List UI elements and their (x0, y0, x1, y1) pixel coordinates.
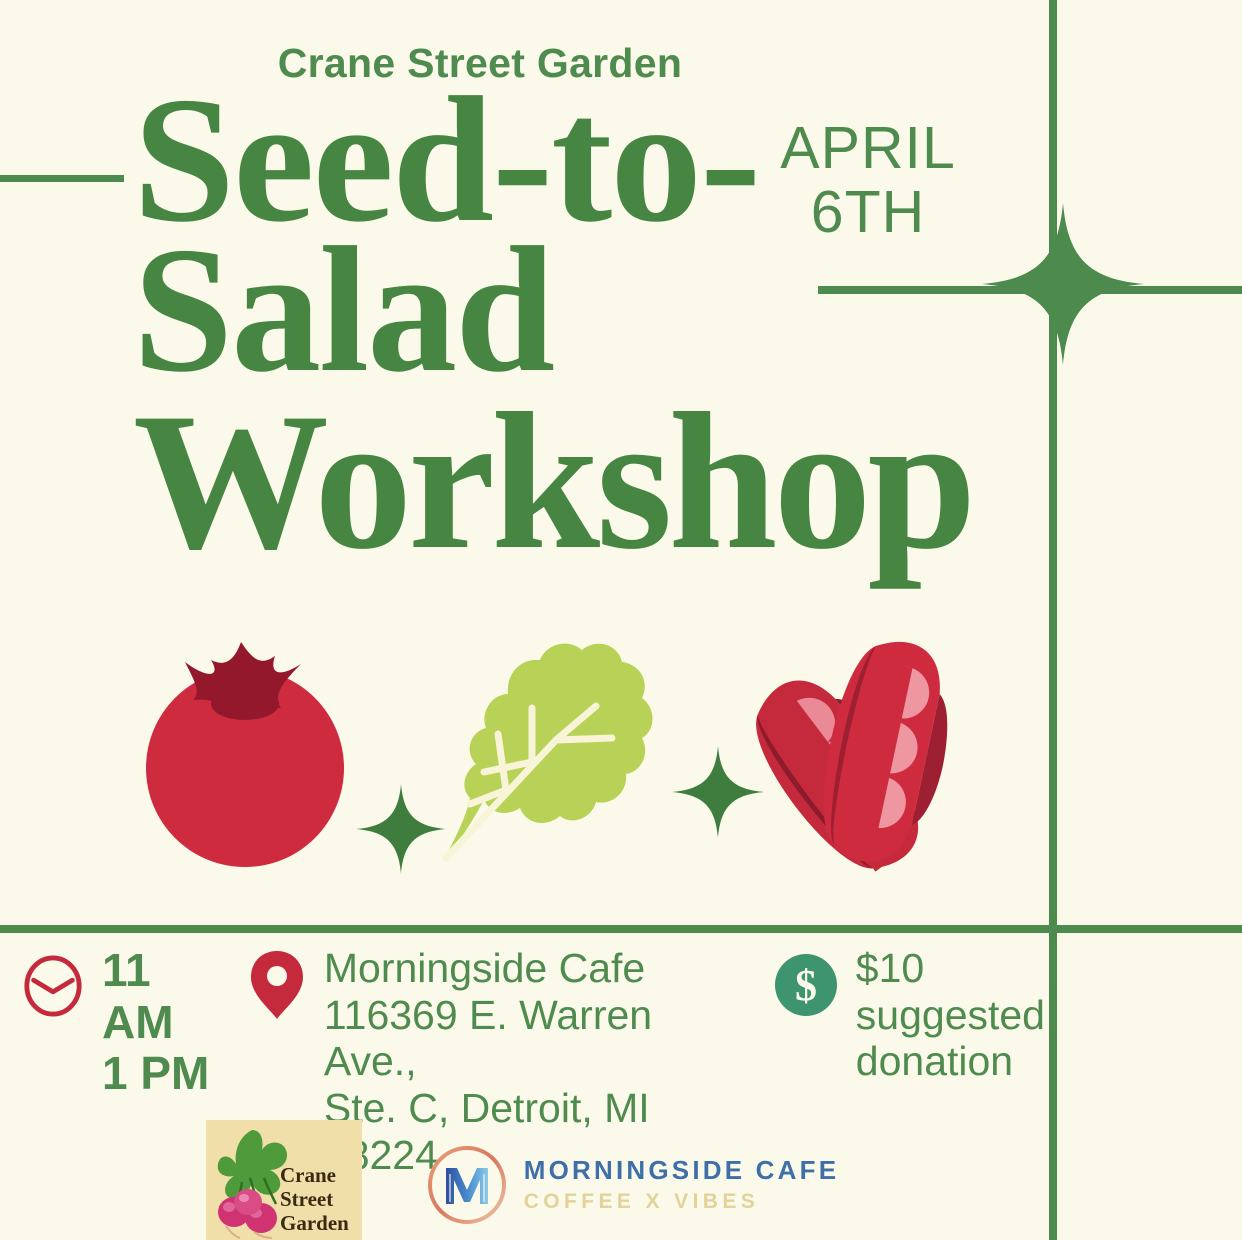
morningside-monogram-icon (424, 1142, 510, 1228)
svg-text:$: $ (795, 961, 817, 1010)
sparkle-small-icon (356, 780, 446, 878)
morningside-name: MORNINGSIDE CAFE (524, 1156, 840, 1186)
event-time-text: 11 AM 1 PM (102, 945, 216, 1100)
event-time-block: 11 AM 1 PM (22, 945, 216, 1100)
svg-text:Garden: Garden (280, 1211, 349, 1235)
title-line-1: Seed-to- (133, 88, 1082, 232)
event-cost-text: $10 suggested donation (856, 945, 1045, 1085)
dollar-circle-icon: $ (774, 953, 838, 1017)
title-line-3: Workshop (133, 404, 1063, 561)
svg-text:Street: Street (280, 1187, 333, 1211)
title-line-2: Salad (133, 238, 1063, 382)
decorative-rule-left (0, 175, 124, 182)
event-details-bar: 11 AM 1 PM Morningside Cafe 116369 E. Wa… (0, 945, 1045, 1095)
lettuce-leaf-illustration (436, 612, 668, 874)
map-pin-icon (248, 949, 306, 1021)
page-title: Seed-to- Salad Workshop (133, 88, 1063, 561)
pea-pods-illustration (744, 612, 1006, 894)
event-flyer: Crane Street Garden APRIL 6TH Seed-to- S… (0, 0, 1242, 1240)
morningside-cafe-logo: MORNINGSIDE CAFE COFFEE X VIBES (424, 1120, 840, 1228)
clock-icon (22, 955, 84, 1017)
morningside-wordmark: MORNINGSIDE CAFE COFFEE X VIBES (524, 1156, 840, 1214)
svg-text:Crane: Crane (280, 1163, 336, 1187)
crane-street-garden-logo: Crane Street Garden (206, 1120, 362, 1240)
event-cost-block: $ $10 suggested donation (774, 945, 1045, 1085)
sponsor-logos: Crane Street Garden (0, 1120, 1045, 1240)
tomato-illustration (131, 620, 355, 870)
morningside-tagline: COFFEE X VIBES (524, 1189, 840, 1214)
